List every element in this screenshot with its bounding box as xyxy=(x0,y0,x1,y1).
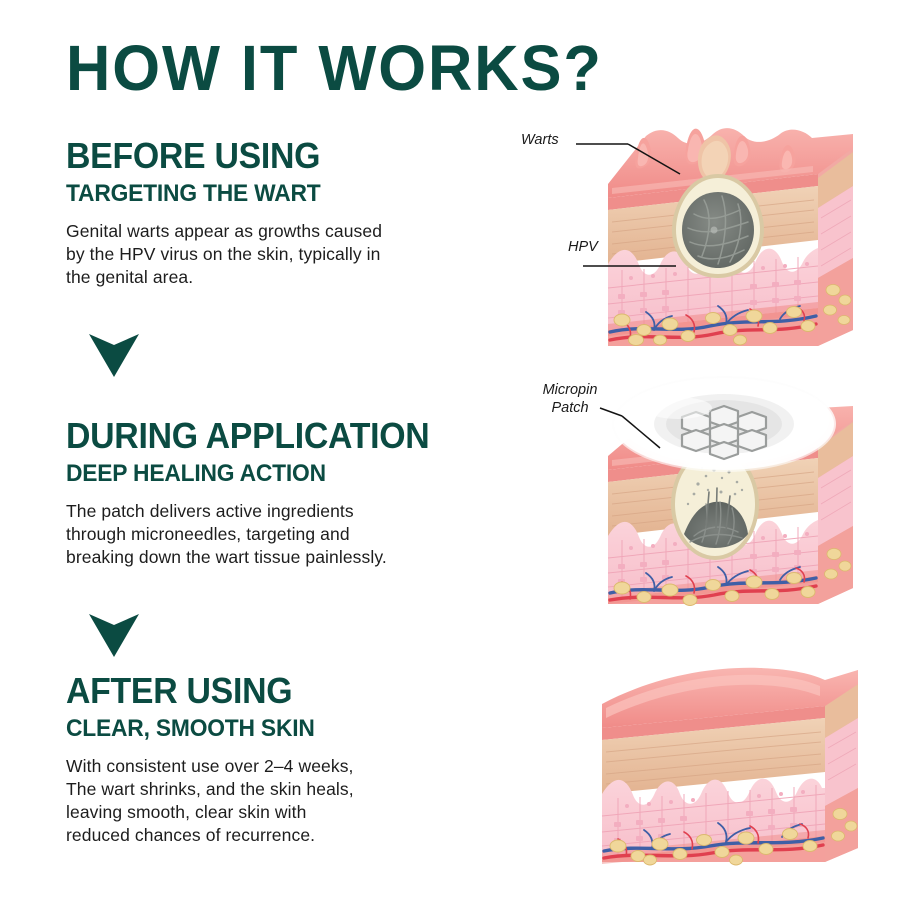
step-1-body-line-3: the genital area. xyxy=(66,266,496,289)
skin-front-face xyxy=(602,718,825,865)
step-1-body: Genital warts appear as growths caused b… xyxy=(66,220,496,289)
step-1-title: BEFORE USING xyxy=(66,138,470,174)
step-3-title: AFTER USING xyxy=(66,673,470,709)
skin-cross-section-with-warts xyxy=(508,118,900,350)
micropin-patch-label-line-2: Patch xyxy=(528,399,612,417)
step-3-body-line-2: The wart shrinks, and the skin heals, xyxy=(66,778,496,801)
step-2-subtitle: DEEP HEALING ACTION xyxy=(66,461,475,486)
step-1-text-block: BEFORE USING TARGETING THE WART Genital … xyxy=(66,138,496,289)
chevron-down-icon xyxy=(88,332,140,378)
step-2-body-line-1: The patch delivers active ingredients xyxy=(66,500,496,523)
step-3-text-block: AFTER USING CLEAR, SMOOTH SKIN With cons… xyxy=(66,673,496,848)
micropin-patch xyxy=(612,376,836,472)
micropin-patch-callout-label: Micropin Patch xyxy=(528,381,612,417)
step-3-body-line-3: leaving smooth, clear skin with xyxy=(66,801,496,824)
step-3-body: With consistent use over 2–4 weeks, The … xyxy=(66,755,496,847)
chevron-down-icon xyxy=(88,612,140,658)
step-2-title: DURING APPLICATION xyxy=(66,418,470,454)
step-1-body-line-2: by the HPV virus on the skin, typically … xyxy=(66,243,496,266)
warts-callout-label: Warts xyxy=(521,131,559,149)
step-2-text-block: DURING APPLICATION DEEP HEALING ACTION T… xyxy=(66,418,496,569)
step-3-body-line-4: reduced chances of recurrence. xyxy=(66,824,496,847)
skin-cross-section-healed xyxy=(560,648,900,868)
step-1-body-line-1: Genital warts appear as growths caused xyxy=(66,220,496,243)
step-2-body-line-2: through microneedles, targeting and xyxy=(66,523,496,546)
page-title: HOW IT WORKS? xyxy=(66,36,603,100)
step-1-to-2-arrow xyxy=(88,332,140,378)
infographic-page: HOW IT WORKS? BEFORE USING TARGETING THE… xyxy=(0,0,900,900)
micropin-patch-label-line-1: Micropin xyxy=(528,381,612,399)
step-3-subtitle: CLEAR, SMOOTH SKIN xyxy=(66,716,475,741)
step-3-body-line-1: With consistent use over 2–4 weeks, xyxy=(66,755,496,778)
step-2-to-3-arrow xyxy=(88,612,140,658)
step-2-body-line-3: breaking down the wart tissue painlessly… xyxy=(66,546,496,569)
step-1-subtitle: TARGETING THE WART xyxy=(66,181,475,206)
hpv-callout-label: HPV xyxy=(568,238,598,256)
step-2-body: The patch delivers active ingredients th… xyxy=(66,500,496,569)
